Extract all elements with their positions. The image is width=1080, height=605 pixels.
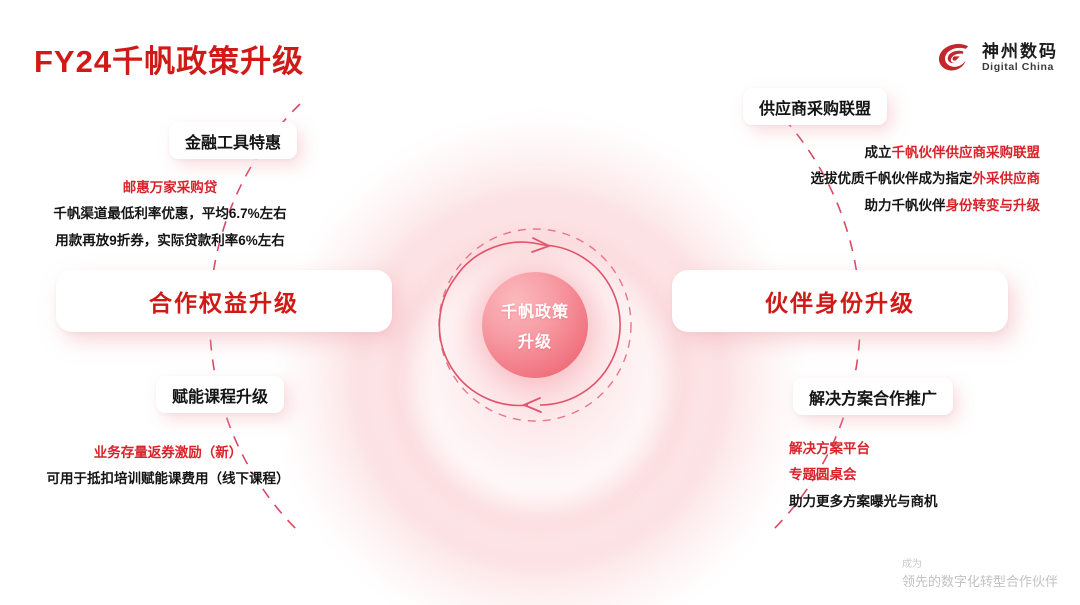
brand-logo: 神州数码 Digital China [934, 38, 1058, 78]
bottom-left-line-1: 可用于抵扣培训赋能课费用（线下课程） [18, 466, 318, 492]
bottom-right-line-1: 助力更多方案曝光与商机 [789, 489, 1080, 515]
card-partner-identity[interactable]: 伙伴身份升级 [672, 270, 1008, 332]
logo-text-en: Digital China [982, 62, 1058, 73]
tag-supplier-alliance[interactable]: 供应商采购联盟 [743, 88, 887, 125]
top-right-line-1-red: 千帆伙伴供应商采购联盟 [892, 145, 1041, 160]
tag-solution-promotion[interactable]: 解决方案合作推广 [793, 378, 953, 415]
top-right-line-2-red: 外采供应商 [973, 171, 1041, 186]
block-bottom-right-text: 解决方案平台 专题圆桌会 助力更多方案曝光与商机 [789, 436, 1080, 515]
card-partnership-benefits[interactable]: 合作权益升级 [56, 270, 392, 332]
top-right-line-3-black: 助力千帆伙伴 [865, 198, 946, 213]
watermark-line-2: 领先的数字化转型合作伙伴 [902, 572, 1058, 592]
top-left-line-2: 用款再放9折券，实际贷款利率6%左右 [20, 228, 320, 254]
top-right-line-3-red: 身份转变与升级 [946, 198, 1041, 213]
top-right-line-1: 成立千帆伙伴供应商采购联盟 [700, 140, 1040, 166]
watermark-line-1: 成为 [902, 557, 1058, 572]
center-hub-line1: 千帆政策 [501, 298, 569, 322]
block-top-left-text: 邮惠万家采购贷 千帆渠道最低利率优惠，平均6.7%左右 用款再放9折券，实际贷款… [20, 175, 320, 254]
footer-watermark: 成为 领先的数字化转型合作伙伴 [902, 557, 1058, 592]
bottom-left-heading: 业务存量返券激励（新） [18, 440, 318, 466]
slide-canvas: FY24千帆政策升级 神州数码 Digital China 千帆政策 升级 金融… [0, 0, 1080, 605]
logo-text-cn: 神州数码 [982, 43, 1058, 61]
bottom-right-heading-1: 解决方案平台 [789, 436, 1080, 462]
top-right-line-3: 助力千帆伙伴身份转变与升级 [700, 193, 1040, 219]
digital-china-swirl-icon [934, 38, 974, 78]
top-right-line-1-black: 成立 [865, 145, 892, 160]
center-hub: 千帆政策 升级 [482, 272, 588, 378]
center-hub-line2: 升级 [518, 328, 552, 352]
block-top-right-text: 成立千帆伙伴供应商采购联盟 选拔优质千帆伙伴成为指定外采供应商 助力千帆伙伴身份… [700, 140, 1040, 219]
page-title: FY24千帆政策升级 [34, 36, 304, 81]
top-right-line-2: 选拔优质千帆伙伴成为指定外采供应商 [700, 166, 1040, 192]
top-left-heading: 邮惠万家采购贷 [20, 175, 320, 201]
bottom-right-heading-2: 专题圆桌会 [789, 462, 1080, 488]
tag-financial-tools[interactable]: 金融工具特惠 [169, 122, 297, 159]
top-right-line-2-black: 选拔优质千帆伙伴成为指定 [811, 171, 973, 186]
tag-enablement-courses[interactable]: 赋能课程升级 [156, 376, 284, 413]
block-bottom-left-text: 业务存量返券激励（新） 可用于抵扣培训赋能课费用（线下课程） [18, 440, 318, 493]
top-left-line-1: 千帆渠道最低利率优惠，平均6.7%左右 [20, 201, 320, 227]
